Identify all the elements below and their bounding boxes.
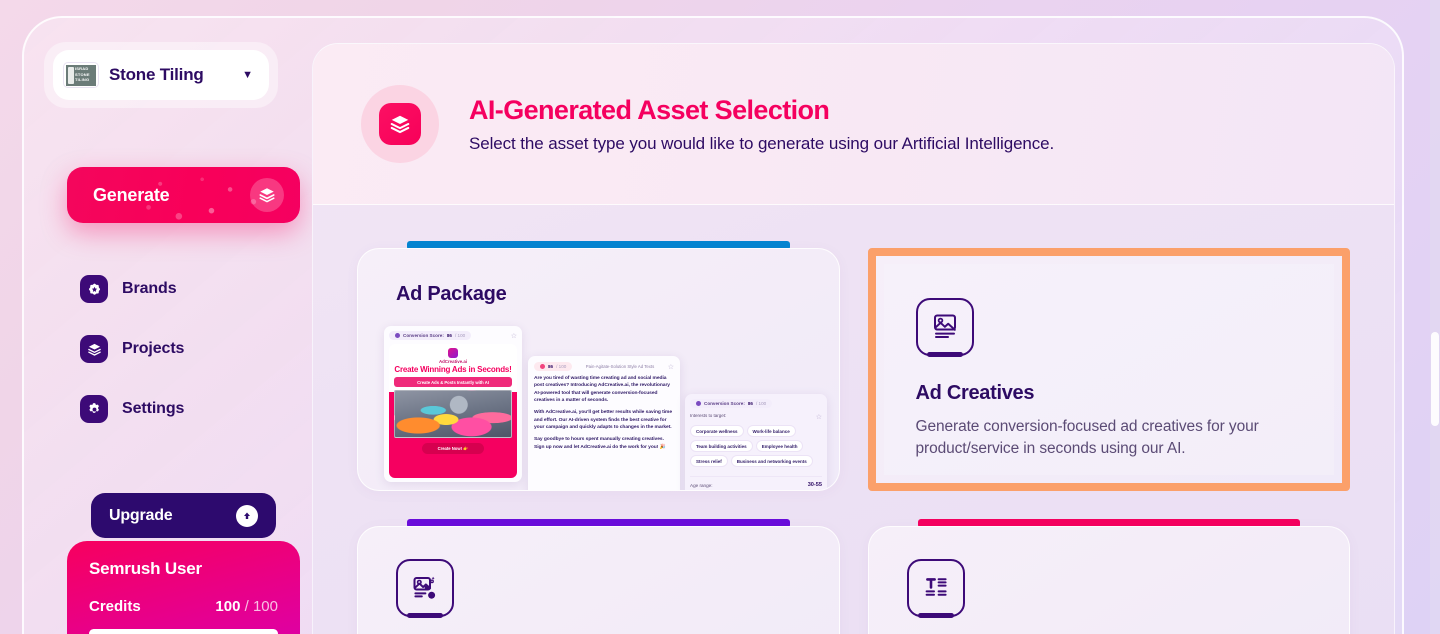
credits-row: Credits 100 / 100	[89, 598, 278, 615]
sidebar: ISRAD STONE TILING Stone Tiling ▼ Genera…	[22, 16, 300, 634]
layers-icon	[80, 335, 108, 363]
header-badge	[361, 85, 439, 163]
credits-used: 100	[215, 598, 240, 615]
score-denominator: / 100	[455, 333, 465, 338]
brand-logo-line3: TILING	[75, 78, 90, 82]
credits-separator: /	[245, 598, 249, 615]
interest-chip: Stress relief	[690, 455, 728, 467]
ad-package-preview: Conversion Score: 86 / 100 ☆ AdCreative.…	[358, 320, 839, 491]
card-body[interactable]: Ad Creatives Generate conversion-focused…	[868, 248, 1351, 491]
interest-chips: Corporate wellness Work-life balance Tea…	[690, 425, 822, 467]
score-denominator: / 100	[556, 364, 566, 369]
card-body[interactable]	[868, 526, 1351, 634]
sidebar-item-label: Settings	[122, 400, 184, 418]
page-subtitle: Select the asset type you would like to …	[469, 134, 1054, 154]
upgrade-button[interactable]: Upgrade	[91, 493, 276, 538]
generate-button[interactable]: Generate	[67, 167, 300, 223]
ad-photo	[394, 390, 512, 438]
score-denominator: / 100	[756, 401, 766, 406]
preview-mini-card-ad: Conversion Score: 86 / 100 ☆ AdCreative.…	[384, 326, 522, 482]
page-header: AI-Generated Asset Selection Select the …	[313, 44, 1394, 205]
image-heart-icon	[396, 559, 454, 617]
score-value: 86	[447, 333, 452, 338]
asset-card-ad-creatives[interactable]: Ad Creatives Generate conversion-focused…	[868, 241, 1351, 491]
interest-chip: Employee health	[756, 440, 804, 452]
sidebar-item-brands[interactable]: Brands	[80, 272, 280, 306]
age-range-row: Age range: 30-55	[690, 476, 822, 488]
sidebar-item-label: Projects	[122, 340, 184, 358]
star-icon: ☆	[816, 413, 822, 421]
preview-mini-card-audience: Conversion Score: 86 / 100 Interests to …	[685, 394, 827, 491]
score-value: 86	[748, 401, 753, 406]
interest-chip: Work-life balance	[747, 425, 796, 437]
card-title: Ad Creatives	[916, 382, 1303, 405]
interest-chip: Business and networking events	[731, 455, 813, 467]
ad-artwork: AdCreative.ai Create Winning Ads in Seco…	[389, 344, 517, 478]
text-document-icon	[907, 559, 965, 617]
vertical-scrollbar-thumb[interactable]	[1431, 332, 1439, 426]
preview-mini-card-text: 86 / 100 Pain-Agitate-Solution Style Ad …	[528, 356, 680, 491]
page-title: AI-Generated Asset Selection	[469, 94, 1054, 128]
age-range-label: Age range:	[690, 483, 712, 488]
page-header-text: AI-Generated Asset Selection Select the …	[469, 94, 1054, 155]
sidebar-item-label: Brands	[122, 280, 177, 298]
brand-name: Stone Tiling	[109, 65, 232, 85]
card-title: Ad Package	[358, 249, 839, 306]
upgrade-button-label: Upgrade	[109, 507, 236, 525]
interest-chip: Corporate wellness	[690, 425, 744, 437]
ad-text-paragraph: Say goodbye to hours spent manually crea…	[534, 436, 674, 451]
credits-total: 100	[253, 598, 278, 615]
score-label: Conversion Score:	[403, 333, 444, 338]
asset-cards-grid: Ad Package Conversion Score: 86 / 100	[357, 241, 1350, 634]
image-card-icon	[916, 298, 974, 356]
generate-button-label: Generate	[93, 185, 250, 206]
card-description: Generate conversion-focused ad creatives…	[916, 416, 1296, 460]
credits-values: 100 / 100	[215, 598, 278, 615]
card-body[interactable]	[357, 526, 840, 634]
card-body[interactable]: Ad Package Conversion Score: 86 / 100	[357, 248, 840, 491]
asset-card-social-creatives[interactable]	[357, 519, 840, 634]
asset-card-ad-package[interactable]: Ad Package Conversion Score: 86 / 100	[357, 241, 840, 491]
layers-icon	[379, 103, 421, 145]
layers-icon	[250, 178, 284, 212]
gear-icon	[80, 395, 108, 423]
brand-pill[interactable]: ISRAD STONE TILING Stone Tiling ▼	[53, 50, 269, 100]
asset-cards-area: Ad Package Conversion Score: 86 / 100	[313, 205, 1394, 634]
sidebar-nav: Brands Projects Settings	[80, 272, 280, 452]
credits-progress-fill	[89, 629, 278, 634]
ad-text-paragraph: With AdCreative.ai, you'll get better re…	[534, 409, 674, 431]
ad-subline: Create Ads & Posts Instantly with AI	[394, 377, 512, 387]
ad-text-body: Are you tired of wasting time creating a…	[534, 375, 674, 451]
ad-cta-button: Create Now! 👉	[422, 443, 483, 454]
chevron-down-icon[interactable]: ▼	[242, 69, 259, 81]
star-icon: ☆	[511, 332, 517, 340]
ad-text-paragraph: Are you tired of wasting time creating a…	[534, 375, 674, 405]
score-value: 86	[548, 364, 553, 369]
credits-progress-track	[89, 629, 278, 634]
age-range-value: 30-55	[808, 482, 822, 488]
adcreative-logo-icon	[448, 348, 458, 358]
star-icon: ☆	[668, 363, 674, 371]
asset-card-ad-texts[interactable]	[868, 519, 1351, 634]
user-name: Semrush User	[89, 559, 278, 579]
ad-text-style-tag: Pain-Agitate-Solution Style Ad Texts	[586, 364, 654, 369]
brand-logo-icon: ISRAD STONE TILING	[63, 62, 99, 88]
brand-selector[interactable]: ISRAD STONE TILING Stone Tiling ▼	[44, 42, 278, 108]
credits-card: Semrush User Credits 100 / 100	[67, 541, 300, 634]
sidebar-item-settings[interactable]: Settings	[80, 392, 280, 426]
main-panel: AI-Generated Asset Selection Select the …	[312, 43, 1395, 634]
ad-headline: Create Winning Ads in Seconds!	[394, 366, 512, 374]
sidebar-item-projects[interactable]: Projects	[80, 332, 280, 366]
star-badge-icon	[80, 275, 108, 303]
interest-chip: Team building activities	[690, 440, 753, 452]
score-label: Conversion Score:	[704, 401, 745, 406]
adcreative-logo-text: AdCreative.ai	[394, 359, 512, 364]
vertical-scrollbar-track[interactable]	[1430, 0, 1440, 634]
arrow-up-icon	[236, 505, 258, 527]
card-inner: Ad Creatives Generate conversion-focused…	[884, 264, 1335, 475]
interests-label: Interests to target:	[690, 413, 726, 418]
credits-label: Credits	[89, 598, 141, 615]
